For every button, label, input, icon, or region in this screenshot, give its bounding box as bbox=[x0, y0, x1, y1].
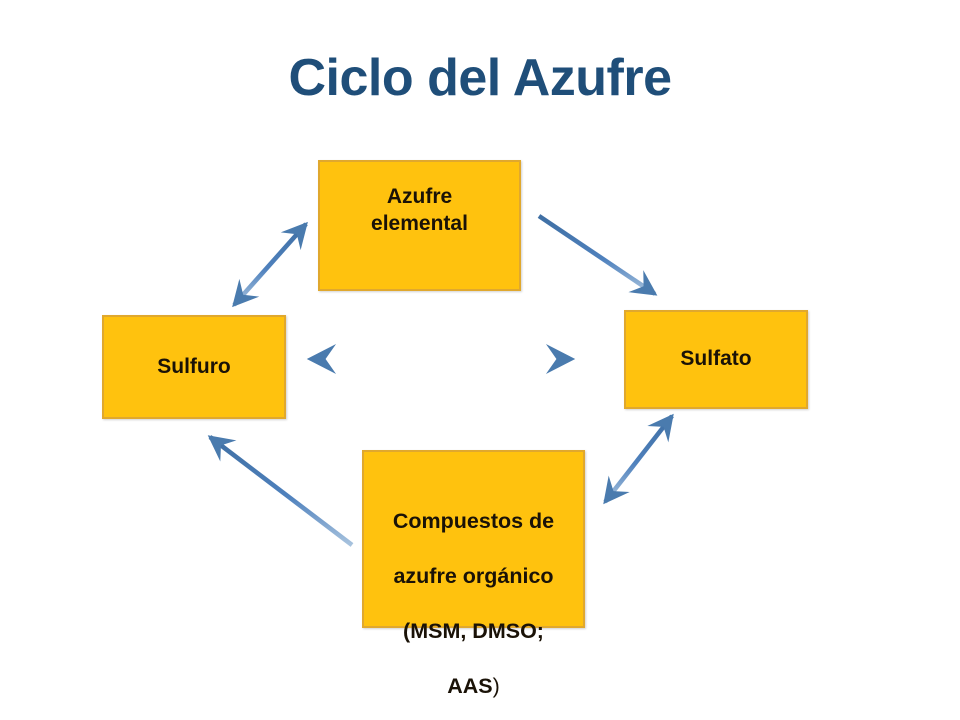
node-sulfato-label: Sulfato bbox=[626, 346, 806, 373]
node-sulfuro-label: Sulfuro bbox=[104, 354, 284, 381]
compuestos-line-4-bold: AAS bbox=[447, 674, 492, 698]
node-azufre-elemental-label: Azufre elemental bbox=[320, 184, 519, 238]
compuestos-line-3: (MSM, DMSO; bbox=[364, 618, 583, 646]
arrow-compuestos-sulfuro bbox=[210, 437, 352, 545]
arrow-azufre-elemental-sulfato bbox=[539, 216, 655, 294]
page-title: Ciclo del Azufre bbox=[0, 50, 960, 107]
node-compuestos-label: Compuestos de azufre orgánico (MSM, DMSO… bbox=[364, 480, 583, 720]
arrow-compuestos-sulfato bbox=[605, 416, 672, 502]
node-compuestos-organicos[interactable]: Compuestos de azufre orgánico (MSM, DMSO… bbox=[362, 450, 585, 628]
compuestos-line-1: Compuestos de bbox=[364, 508, 583, 536]
node-sulfuro[interactable]: Sulfuro bbox=[102, 315, 286, 419]
arrow-sulfuro-azufre-elemental bbox=[234, 224, 306, 305]
compuestos-line-2: azufre orgánico bbox=[364, 563, 583, 591]
compuestos-line-4: AAS) bbox=[364, 673, 583, 701]
compuestos-line-4-paren: ) bbox=[493, 674, 500, 698]
node-sulfato[interactable]: Sulfato bbox=[624, 310, 808, 409]
sulfur-cycle-diagram: Ciclo del Azufre Azufre elemental (diago… bbox=[0, 0, 960, 720]
node-azufre-elemental[interactable]: Azufre elemental bbox=[318, 160, 521, 291]
